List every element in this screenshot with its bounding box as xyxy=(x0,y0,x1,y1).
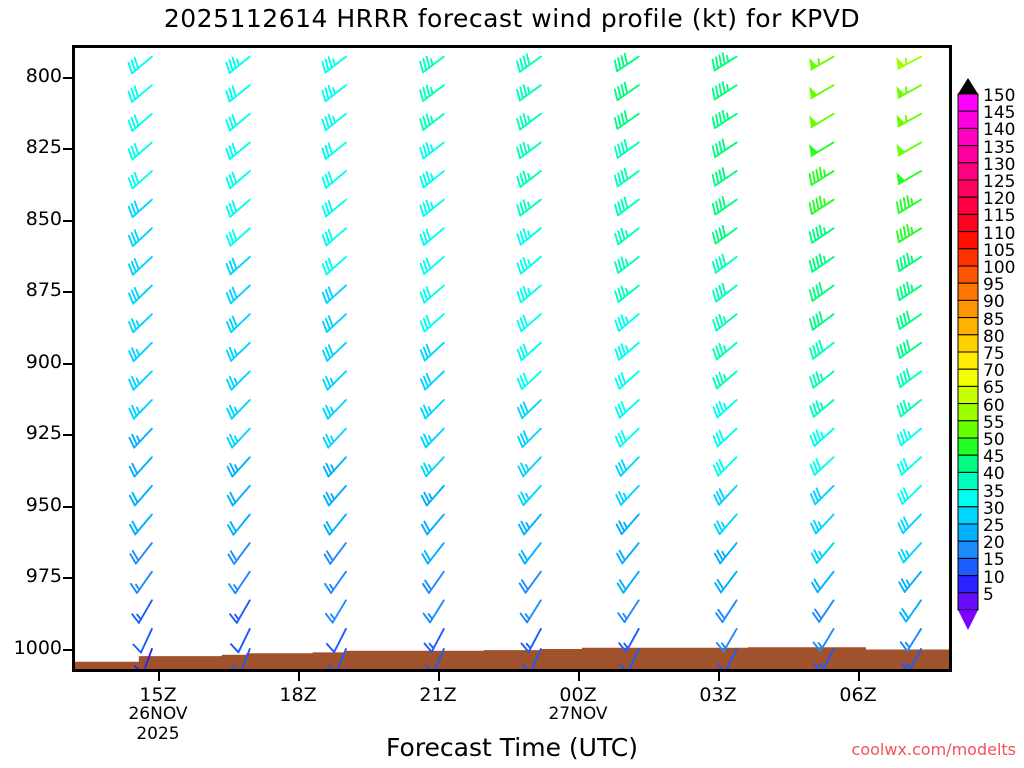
wind-barb-full xyxy=(901,432,904,442)
wind-barb-full xyxy=(723,140,725,151)
colorbar-swatch xyxy=(958,369,978,386)
wind-barb-full xyxy=(427,287,431,297)
colorbar-swatch xyxy=(958,180,978,197)
x-axis-label: 00Z xyxy=(528,684,628,706)
wind-barb-column xyxy=(713,53,737,669)
wind-barb-full xyxy=(621,315,624,325)
wind-barb-full xyxy=(898,435,901,445)
wind-barb-full xyxy=(813,404,816,414)
wind-barb-full xyxy=(421,379,425,389)
x-axis-date-label: 27NOV xyxy=(528,704,628,724)
wind-barb-full xyxy=(615,234,618,245)
wind-barb-pennant xyxy=(810,145,818,156)
wind-barb-full xyxy=(816,285,819,296)
wind-barb-full xyxy=(518,379,522,389)
colorbar-swatch xyxy=(958,472,978,489)
wind-barb-full xyxy=(323,351,327,361)
wind-barb-full xyxy=(517,61,520,72)
wind-barb-full xyxy=(713,262,716,273)
wind-barb-half xyxy=(429,436,431,441)
wind-barb-half xyxy=(819,643,823,648)
wind-barb-full xyxy=(132,233,136,243)
wind-barb-full xyxy=(230,319,234,329)
wind-barb-full xyxy=(615,291,618,302)
wind-barb-full xyxy=(227,322,231,332)
wind-barb-half xyxy=(819,522,822,527)
wind-barb-full xyxy=(898,406,901,417)
wind-barb-full xyxy=(716,231,719,242)
wind-barb-full xyxy=(420,206,423,217)
wind-barb-full xyxy=(517,177,520,188)
wind-barb-full xyxy=(230,261,234,271)
wind-barb-full xyxy=(521,289,524,299)
wind-barb-shaft xyxy=(141,629,152,653)
wind-barb-full xyxy=(615,118,618,129)
wind-barb-full xyxy=(427,229,430,239)
wind-barb-half xyxy=(528,260,530,266)
wind-barb-shaft xyxy=(238,629,249,652)
wind-barb-full xyxy=(810,319,813,330)
wind-barb-full xyxy=(230,348,234,358)
wind-barb-full xyxy=(816,343,819,354)
wind-barb-full xyxy=(816,401,819,411)
wind-barb-full xyxy=(900,287,902,298)
wind-barb-half xyxy=(724,375,726,381)
wind-barb-full xyxy=(329,57,332,68)
wind-barb-half xyxy=(431,145,433,151)
wind-barb-half xyxy=(528,88,530,94)
wind-barb-half xyxy=(526,614,530,619)
wind-barb-full xyxy=(816,372,819,383)
wind-barb-half xyxy=(818,59,819,65)
wind-barb-full xyxy=(810,406,813,416)
wind-barb-half xyxy=(824,199,825,205)
wind-barb-full xyxy=(719,228,722,239)
wind-barb-full xyxy=(524,172,527,183)
wind-barb-half xyxy=(819,552,822,557)
wind-barb-column xyxy=(517,54,541,669)
wind-barb-full xyxy=(518,408,522,418)
wind-barb-full xyxy=(424,348,428,358)
wind-barb-half xyxy=(626,346,628,352)
wind-barb-full xyxy=(618,260,621,271)
wind-barb-full xyxy=(517,90,520,101)
x-axis-label: 03Z xyxy=(668,684,768,706)
wind-barb-canvas xyxy=(75,48,949,669)
wind-barb-full xyxy=(233,288,237,298)
wind-barb-full xyxy=(904,401,907,411)
wind-barb-full xyxy=(810,377,813,388)
colorbar-swatch xyxy=(958,232,978,249)
wind-barb-full xyxy=(129,293,133,303)
x-axis-date-label: 26NOV xyxy=(108,704,208,724)
wind-barb-full xyxy=(129,264,133,274)
wind-barb-full xyxy=(621,56,623,67)
wind-barb-full xyxy=(326,261,330,271)
wind-barb-half xyxy=(727,113,728,119)
wind-barb-full xyxy=(233,86,236,97)
wind-barb-full xyxy=(230,175,234,185)
wind-barb-full xyxy=(424,319,428,329)
wind-barb-full xyxy=(524,287,527,297)
wind-barb-full xyxy=(615,176,618,187)
wind-barb-full xyxy=(816,459,820,469)
wind-barb-full xyxy=(723,111,725,122)
wind-barb-full xyxy=(716,144,718,155)
wind-barb-full xyxy=(329,287,333,297)
colorbar-swatch xyxy=(958,593,978,610)
wind-barb-full xyxy=(520,59,523,70)
x-axis-tick xyxy=(438,672,440,681)
wind-barb-full xyxy=(420,119,423,130)
colorbar-swatch xyxy=(958,386,978,403)
wind-barb-half xyxy=(824,228,825,234)
wind-barb-full xyxy=(723,168,725,179)
wind-barb-full xyxy=(427,258,431,268)
wind-barb-full xyxy=(323,235,327,245)
wind-barb-full xyxy=(521,347,525,357)
colorbar-swatch xyxy=(958,111,978,128)
wind-barb-full xyxy=(227,178,231,188)
wind-barb-half xyxy=(626,289,628,295)
wind-barb-full xyxy=(713,320,716,331)
wind-barb-full xyxy=(813,433,817,443)
wind-barb-full xyxy=(326,319,330,329)
wind-barb-full xyxy=(132,204,136,214)
wind-barb-full xyxy=(517,119,520,130)
wind-barb-pennant xyxy=(897,145,905,156)
wind-barb-full xyxy=(621,286,624,296)
wind-barb-half xyxy=(911,228,912,234)
wind-barb-full xyxy=(132,118,136,128)
wind-barb-full xyxy=(897,289,899,300)
wind-barb-full xyxy=(420,177,423,188)
wind-barb-full xyxy=(719,402,723,412)
wind-barb-full xyxy=(716,86,718,97)
wind-barb-full xyxy=(323,206,326,216)
wind-barb-half xyxy=(235,379,237,385)
wind-barb-half xyxy=(911,285,912,291)
wind-barb-full xyxy=(227,206,231,216)
wind-barb-pennant xyxy=(810,87,818,98)
wind-barb-full xyxy=(813,172,815,183)
wind-barb-full xyxy=(326,348,330,358)
wind-barb-half xyxy=(431,174,433,180)
wind-barb-full xyxy=(524,143,527,154)
wind-barb-pennant xyxy=(897,116,905,127)
wind-barb-full xyxy=(820,197,822,208)
x-axis-label: 18Z xyxy=(248,684,348,706)
wind-barb-full xyxy=(814,462,818,472)
wind-barb-full xyxy=(135,288,139,298)
wind-barb-full xyxy=(625,140,628,151)
wind-barb-full xyxy=(421,264,425,274)
wind-barb-half xyxy=(331,436,334,441)
colorbar-swatch xyxy=(958,335,978,352)
x-axis-label: 06Z xyxy=(808,684,908,706)
wind-barb-full xyxy=(713,378,717,388)
wind-barb-full xyxy=(322,148,325,159)
wind-barb-full xyxy=(713,349,716,359)
wind-barb-full xyxy=(719,315,722,326)
wind-barb-half xyxy=(911,256,912,262)
wind-barb-half xyxy=(330,585,333,590)
wind-barb-full xyxy=(421,321,425,331)
x-axis-tick xyxy=(858,672,860,681)
wind-barb-full xyxy=(615,320,618,330)
wind-barb-full xyxy=(816,257,819,268)
wind-barb-full xyxy=(820,225,822,236)
x-axis-tick xyxy=(298,672,300,681)
wind-barb-full xyxy=(427,374,431,384)
wind-barb-full xyxy=(229,60,232,71)
wind-barb-half xyxy=(526,523,529,528)
wind-barb-full xyxy=(621,229,624,240)
wind-barb-column xyxy=(897,57,921,669)
wind-barb-half xyxy=(235,465,238,470)
wind-barb-full xyxy=(713,233,716,244)
wind-barb-full xyxy=(907,283,909,294)
wind-barb-half xyxy=(821,403,823,409)
wind-barb-half xyxy=(333,88,335,94)
wind-barb-shaft xyxy=(334,629,346,652)
wind-barb-full xyxy=(322,120,325,130)
wind-barb-half xyxy=(137,321,139,327)
wind-barb-full xyxy=(713,291,716,302)
wind-barb-full xyxy=(901,491,905,501)
wind-barb-half xyxy=(821,374,823,380)
wind-barb-full xyxy=(518,321,522,331)
wind-barb-full xyxy=(716,260,719,271)
wind-barb-full xyxy=(326,60,329,71)
wind-barb-half xyxy=(626,317,628,323)
wind-barb-full xyxy=(615,262,618,273)
wind-barb-full xyxy=(527,54,530,65)
wind-barb-full xyxy=(904,227,906,238)
x-axis-tick xyxy=(578,672,580,681)
wind-barb-full xyxy=(524,344,528,354)
wind-barb-half xyxy=(235,615,239,620)
wind-barb-full xyxy=(233,259,237,269)
wind-barb-full xyxy=(897,231,899,242)
wind-barb-full xyxy=(618,202,621,213)
wind-barb-full xyxy=(229,89,232,100)
wind-barb-full xyxy=(901,374,904,385)
wind-barb-full xyxy=(813,346,816,357)
wind-barb-full xyxy=(618,58,620,69)
wind-barb-full xyxy=(719,431,723,441)
wind-barb-full xyxy=(904,343,907,354)
wind-barb-full xyxy=(135,173,139,183)
wind-barb-full xyxy=(904,285,906,296)
wind-barb-full xyxy=(816,430,820,440)
wind-barb-pennant xyxy=(810,59,818,70)
wind-barb-full xyxy=(904,430,907,440)
wind-barb-full xyxy=(904,372,907,383)
wind-barb-full xyxy=(524,258,527,268)
wind-barb-full xyxy=(423,59,426,70)
x-axis-label: 21Z xyxy=(388,684,488,706)
wind-barb-full xyxy=(719,344,722,354)
wind-barb-half xyxy=(137,407,139,412)
wind-barb-full xyxy=(326,117,329,128)
y-axis-label: 825 xyxy=(0,136,62,158)
wind-barb-full xyxy=(810,232,812,243)
wind-barb-full xyxy=(616,378,620,388)
wind-barb-full xyxy=(723,82,725,93)
colorbar-swatch xyxy=(958,404,978,421)
wind-barb-half xyxy=(431,203,433,209)
wind-barb-half xyxy=(430,644,434,649)
wind-barb-full xyxy=(229,146,232,156)
colorbar-swatch xyxy=(958,541,978,558)
wind-barb-full xyxy=(129,236,133,246)
wind-barb-full xyxy=(129,63,132,73)
wind-barb-full xyxy=(326,146,329,156)
wind-barb-full xyxy=(622,402,626,412)
wind-barb-full xyxy=(713,146,715,157)
wind-barb-full xyxy=(901,345,904,356)
wind-barb-half xyxy=(906,551,909,556)
wind-barb-full xyxy=(717,433,721,443)
wind-barb-full xyxy=(810,348,813,359)
wind-barb-full xyxy=(326,290,330,300)
wind-barb-half xyxy=(727,85,728,91)
colorbar-swatch xyxy=(958,163,978,180)
y-axis-label: 975 xyxy=(0,565,62,587)
wind-barb-full xyxy=(135,86,138,96)
wind-barb-full xyxy=(810,436,814,446)
wind-barb-half xyxy=(137,379,139,385)
wind-barb-full xyxy=(520,232,523,243)
wind-barb-full xyxy=(427,143,430,154)
wind-barb-half xyxy=(429,407,431,413)
wind-barb-full xyxy=(129,322,133,332)
wind-barb-half xyxy=(624,523,627,528)
wind-barb-full xyxy=(424,261,428,271)
wind-barb-full xyxy=(713,89,715,100)
wind-barb-full xyxy=(897,202,899,213)
wind-barb-full xyxy=(820,168,822,179)
x-axis-label: 15Z xyxy=(108,684,208,706)
wind-barb-full xyxy=(135,259,139,269)
wind-barb-full xyxy=(423,145,426,156)
wind-barb-half xyxy=(333,117,335,123)
colorbar-swatch xyxy=(958,266,978,283)
wind-barb-full xyxy=(813,317,816,328)
wind-barb-pennant xyxy=(897,87,905,98)
wind-barb-full xyxy=(229,118,232,128)
wind-barb-full xyxy=(618,289,621,300)
wind-barb-full xyxy=(897,260,899,271)
wind-barb-full xyxy=(819,341,822,352)
colorbar-swatch xyxy=(958,352,978,369)
wind-barb-full xyxy=(621,344,625,354)
wind-barb-half xyxy=(724,317,726,323)
wind-barb-half xyxy=(824,257,825,263)
wind-barb-full xyxy=(820,312,823,323)
wind-barb-half xyxy=(911,199,912,205)
wind-barb-full xyxy=(517,263,520,273)
wind-barb-full xyxy=(904,256,906,267)
wind-barb-full xyxy=(129,91,132,101)
wind-barb-full xyxy=(616,407,620,417)
wind-barb-column xyxy=(615,54,639,669)
wind-barb-full xyxy=(907,311,910,322)
wind-barb-half xyxy=(624,494,627,499)
wind-barb-full xyxy=(423,203,426,214)
wind-barb-full xyxy=(524,373,528,383)
wind-barb-half xyxy=(906,87,907,93)
wind-barb-full xyxy=(904,198,906,209)
wind-barb-full xyxy=(329,316,333,326)
colorbar-swatch xyxy=(958,455,978,472)
wind-barb-half xyxy=(431,59,433,65)
wind-barb-full xyxy=(424,290,428,300)
wind-barb-full xyxy=(427,172,430,182)
wind-barb-full xyxy=(233,57,236,67)
wind-barb-full xyxy=(621,142,624,153)
y-axis-label: 925 xyxy=(0,422,62,444)
wind-barb-full xyxy=(517,205,520,216)
wind-barb-half xyxy=(722,643,726,648)
wind-barb-full xyxy=(719,55,721,66)
wind-barb-half xyxy=(331,614,335,619)
wind-profile-chart: 2025112614 HRRR forecast wind profile (k… xyxy=(0,0,1024,768)
wind-barb-full xyxy=(719,257,722,268)
wind-barb-full xyxy=(421,292,425,302)
colorbar-swatch xyxy=(958,318,978,335)
colorbar-tick-label: 5 xyxy=(983,585,994,605)
wind-barb-full xyxy=(323,322,327,332)
wind-barb-full xyxy=(625,83,628,94)
wind-barb-half xyxy=(528,145,530,151)
wind-barb-full xyxy=(810,261,813,272)
wind-barb-full xyxy=(132,89,135,99)
wind-barb-half xyxy=(824,170,825,176)
colorbar-swatch xyxy=(958,249,978,266)
wind-barb-full xyxy=(810,174,812,185)
wind-barb-full xyxy=(615,349,619,359)
wind-barb-full xyxy=(521,261,524,271)
wind-barb-full xyxy=(521,318,525,328)
wind-barb-full xyxy=(329,259,333,269)
colorbar-swatch xyxy=(958,507,978,524)
wind-barb-full xyxy=(723,226,726,237)
wind-barb-half xyxy=(821,432,823,438)
wind-barb-full xyxy=(723,255,726,266)
wind-barb-full xyxy=(900,229,902,240)
wind-barb-full xyxy=(420,235,423,245)
wind-barb-full xyxy=(427,85,430,96)
wind-barb-full xyxy=(719,113,721,124)
wind-barb-full xyxy=(520,116,523,127)
wind-barb-full xyxy=(907,369,910,380)
wind-barb-full xyxy=(326,88,329,99)
wind-barb-full xyxy=(329,86,332,97)
wind-barb-column xyxy=(129,57,152,669)
wind-barb-full xyxy=(322,62,325,73)
wind-barb-full xyxy=(135,115,139,125)
wind-barb-full xyxy=(329,230,333,240)
wind-barb-full xyxy=(713,204,716,215)
wind-barb-column xyxy=(810,57,834,669)
wind-barb-full xyxy=(231,644,238,652)
wind-barb-half xyxy=(527,644,531,649)
wind-barb-full xyxy=(323,177,326,187)
wind-barb-half xyxy=(234,585,237,590)
wind-barb-full xyxy=(226,149,229,159)
